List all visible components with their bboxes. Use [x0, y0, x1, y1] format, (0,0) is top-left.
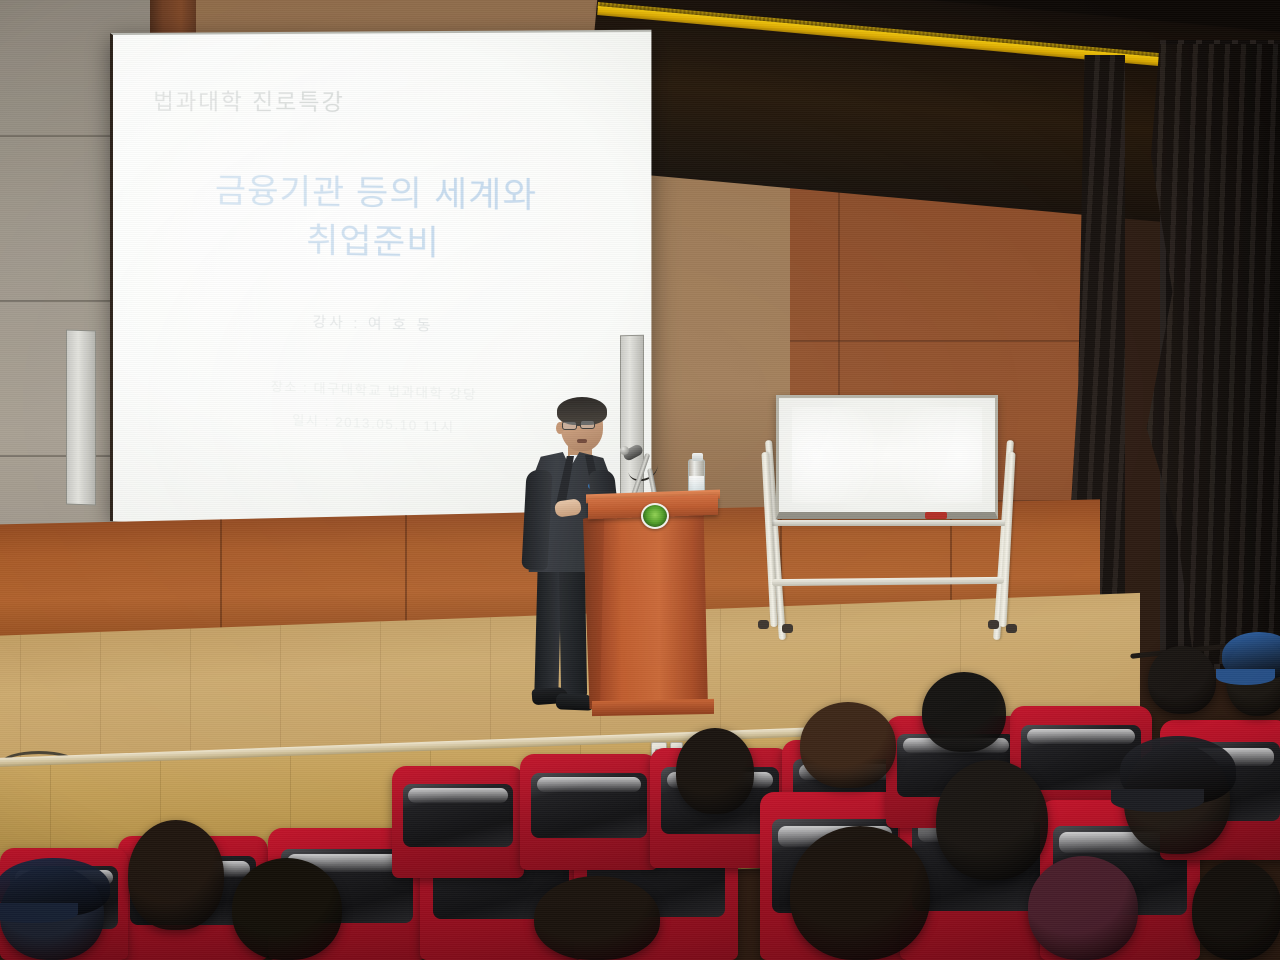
audience-head-4 [676, 728, 754, 814]
audience-head-10 [1148, 646, 1216, 714]
seat-headrest-gloss [408, 788, 508, 803]
audience-head-1 [128, 820, 224, 930]
audience-head-8 [936, 760, 1048, 880]
audience-head-2 [232, 858, 342, 960]
microphone-capsule [620, 446, 629, 455]
presenter-trouser-right [559, 565, 587, 697]
audience-head-12 [1192, 860, 1280, 960]
audience-head-6 [922, 672, 1006, 752]
presenter-eyeglass-left [562, 421, 577, 430]
wall-speaker-left [66, 329, 96, 505]
presenter-arm-left [521, 469, 552, 570]
audience-head-3 [534, 876, 660, 960]
navy-cap-icon [0, 858, 110, 916]
slide-header: 법과대학 진로특강 [153, 84, 345, 117]
whiteboard-foot-left [758, 620, 769, 629]
whiteboard-foot-right-2 [1006, 624, 1017, 633]
presenter-eyeglass-bridge [576, 424, 581, 426]
seat-headrest-gloss [1027, 729, 1135, 744]
podium-base [592, 699, 714, 716]
whiteboard-marker [925, 512, 947, 519]
whiteboard-tray [770, 520, 1006, 526]
presenter-trouser-left [534, 565, 561, 696]
bottle-cap [692, 453, 703, 461]
lecture-hall-photo: 법과대학 진로특강 금융기관 등의 세계와 취업준비 강사 : 여 호 동 장소… [0, 0, 1280, 960]
seat-headrest-gloss [537, 777, 642, 792]
podium-emblem [641, 503, 669, 529]
presenter-shoe-right [556, 693, 595, 710]
slide-title: 금융기관 등의 세계와 취업준비 [113, 166, 651, 273]
blue-cap-icon [1222, 632, 1280, 679]
whiteboard-foot-right [988, 620, 999, 629]
audience-head-5 [800, 702, 896, 788]
dark-cap-icon [1120, 736, 1236, 804]
audience-head-7 [790, 826, 930, 960]
slide-speaker-line: 강사 : 여 호 동 [113, 305, 651, 343]
whiteboard-foot-left-2 [782, 624, 793, 633]
seat-row-mid-2 [520, 754, 658, 870]
slide-title-line-2: 취업준비 [113, 213, 651, 273]
podium-body [600, 515, 708, 710]
presenter-mouth [577, 439, 587, 443]
seat-row-mid-1 [392, 766, 524, 878]
audience-head-14 [1028, 856, 1138, 960]
whiteboard [776, 395, 998, 519]
presenter-eyeglass-right [580, 420, 595, 429]
